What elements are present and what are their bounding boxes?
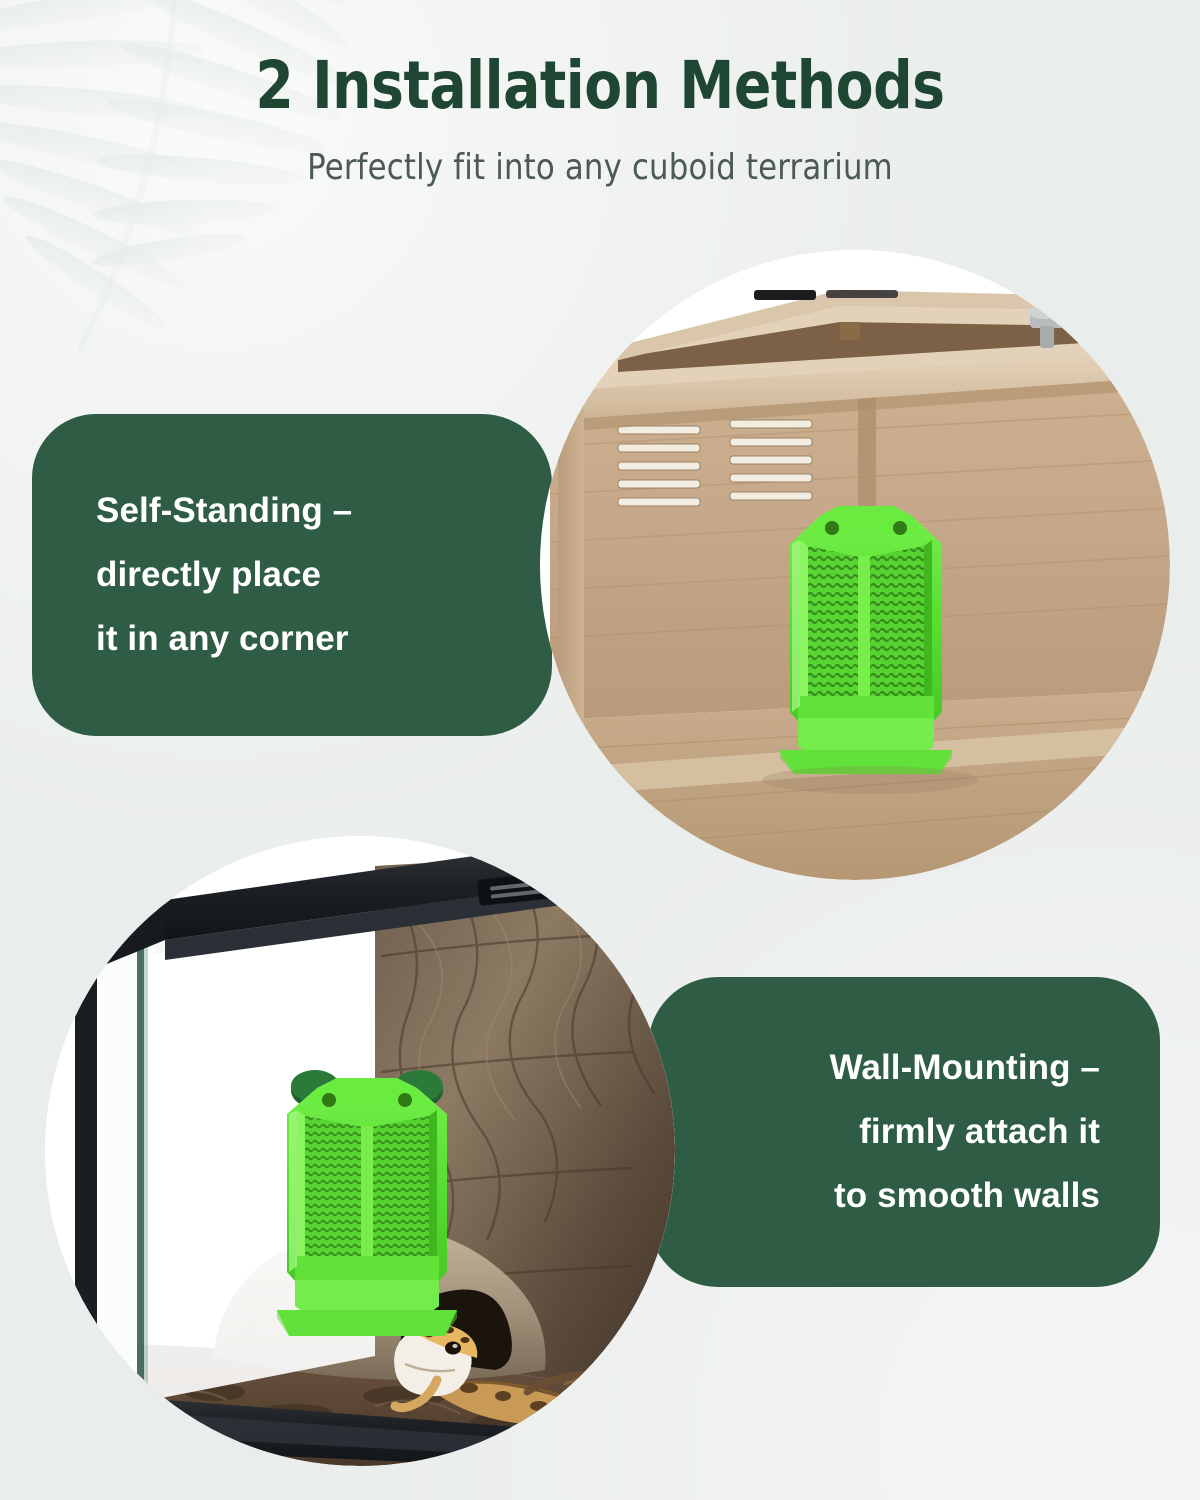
photo-self-standing — [540, 250, 1170, 880]
page-title: 2 Installation Methods — [42, 52, 1158, 119]
feature-card-wall-mounting: Wall-Mounting – firmly attach it to smoo… — [648, 977, 1160, 1287]
header: 2 Installation Methods Perfectly fit int… — [0, 52, 1200, 188]
feature-card-line: it in any corner — [96, 607, 552, 671]
page-subtitle: Perfectly fit into any cuboid terrarium — [30, 147, 1170, 188]
infographic-root: 2 Installation Methods Perfectly fit int… — [0, 0, 1200, 1500]
feature-card-line: firmly attach it — [859, 1100, 1100, 1164]
feature-card-line: to smooth walls — [834, 1164, 1100, 1228]
feature-card-line: directly place — [96, 543, 552, 607]
photo-wall-mounting — [45, 836, 675, 1466]
feature-card-line: Wall-Mounting – — [830, 1036, 1100, 1100]
feature-card-self-standing: Self-Standing – directly place it in any… — [32, 414, 552, 736]
feature-card-line: Self-Standing – — [96, 479, 552, 543]
